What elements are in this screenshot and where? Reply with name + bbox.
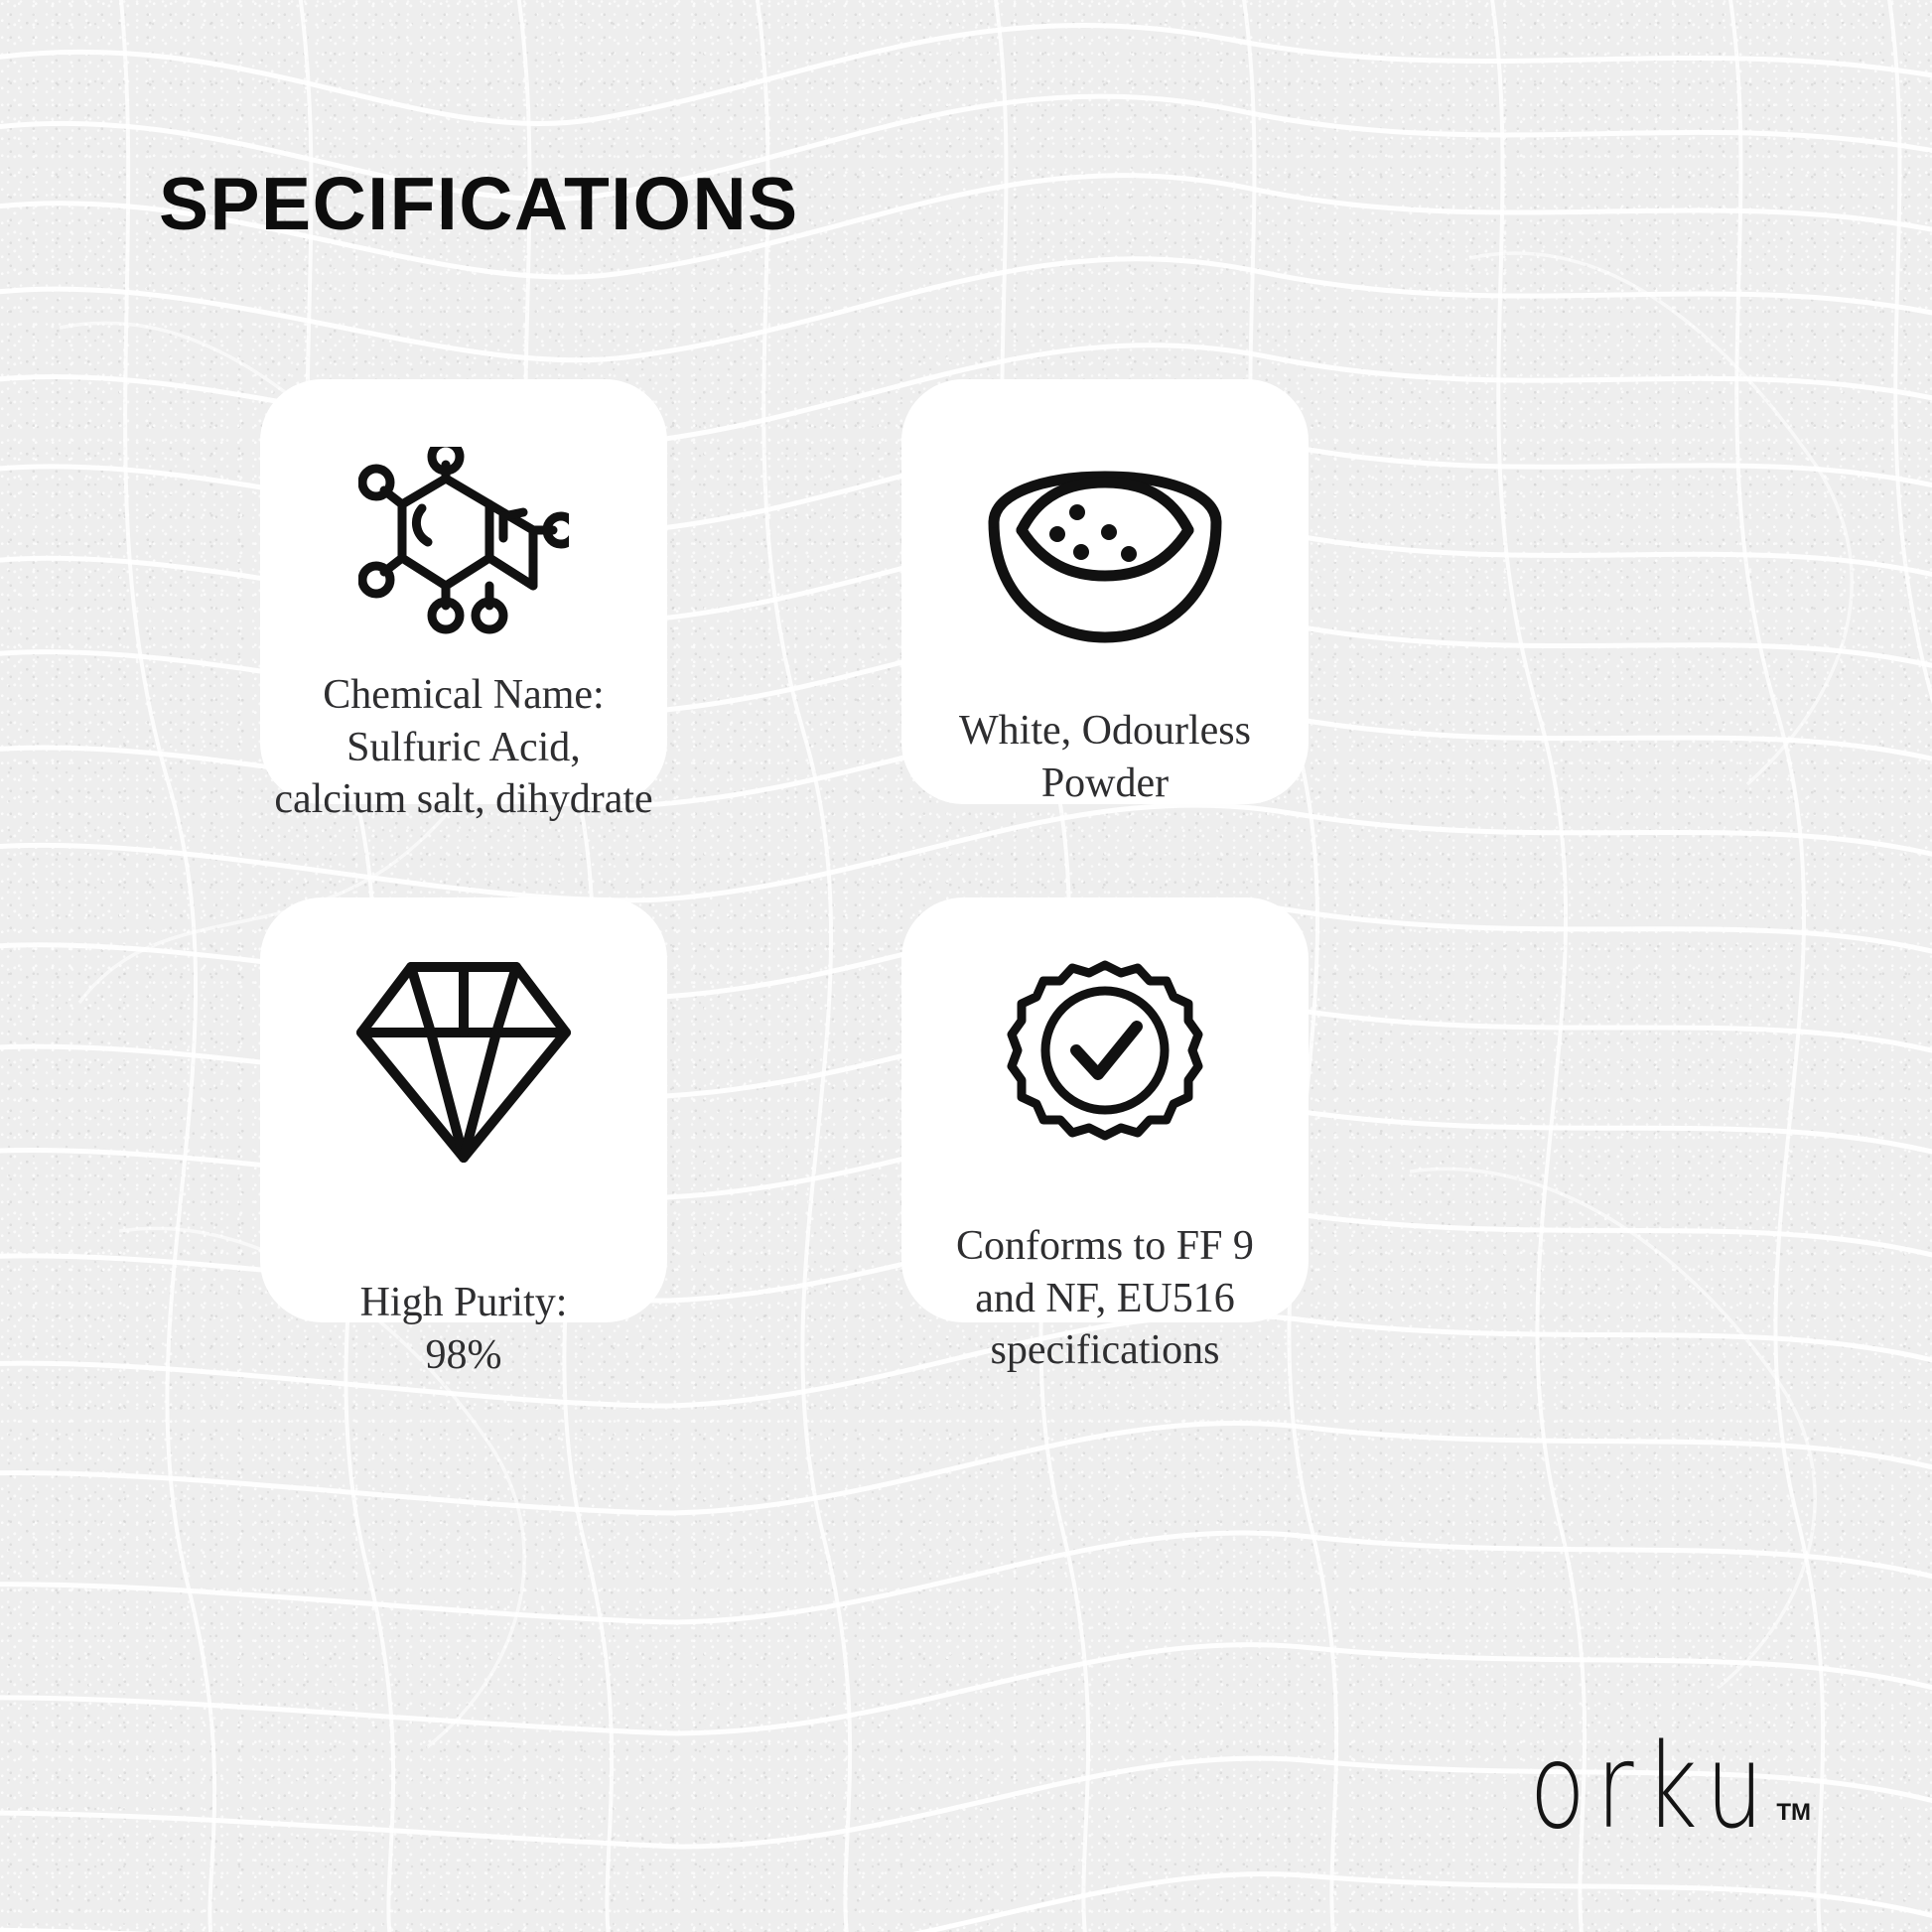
spec-line: Conforms to FF 9 bbox=[907, 1220, 1303, 1273]
spec-card-purity: High Purity: 98% bbox=[260, 897, 667, 1322]
spec-line: White, Odourless bbox=[907, 705, 1303, 758]
spec-line: specifications bbox=[907, 1324, 1303, 1377]
spec-card-text-appearance: White, Odourless Powder bbox=[901, 705, 1309, 809]
trademark-symbol: TM bbox=[1776, 1799, 1811, 1827]
powder-grains bbox=[1049, 504, 1137, 562]
spec-card-text-chemical-name: Chemical Name: Sulfuric Acid, calcium sa… bbox=[260, 669, 667, 826]
diamond-icon-wrap bbox=[260, 959, 667, 1166]
specifications-card-grid: Chemical Name: Sulfuric Acid, calcium sa… bbox=[260, 379, 1311, 1322]
diamond-icon bbox=[353, 959, 574, 1166]
spec-card-text-conformance: Conforms to FF 9 and NF, EU516 specifica… bbox=[901, 1220, 1309, 1377]
spec-line: and NF, EU516 bbox=[907, 1273, 1303, 1325]
spec-line: High Purity: bbox=[266, 1277, 661, 1329]
spec-card-appearance: White, Odourless Powder bbox=[901, 379, 1309, 804]
certified-badge-check-icon bbox=[1001, 959, 1209, 1163]
powder-bowl-icon bbox=[982, 465, 1228, 643]
molecule-icon-wrap bbox=[260, 447, 667, 635]
spec-line: Chemical Name: bbox=[266, 669, 661, 722]
certified-badge-check-icon-wrap bbox=[901, 959, 1309, 1163]
spec-line: Powder bbox=[907, 758, 1303, 810]
spec-line: Sulfuric Acid, bbox=[266, 722, 661, 774]
spec-line: 98% bbox=[266, 1329, 661, 1382]
brand-logo: orku TM bbox=[1460, 1732, 1811, 1841]
spec-line: calcium salt, dihydrate bbox=[266, 773, 661, 826]
spec-card-text-purity: High Purity: 98% bbox=[260, 1277, 667, 1381]
brand-wordmark: orku bbox=[1530, 1732, 1775, 1841]
powder-bowl-icon-wrap bbox=[901, 465, 1309, 643]
spec-card-conformance: Conforms to FF 9 and NF, EU516 specifica… bbox=[901, 897, 1309, 1322]
molecule-icon bbox=[358, 447, 569, 635]
spec-card-chemical-name: Chemical Name: Sulfuric Acid, calcium sa… bbox=[260, 379, 667, 804]
page-title: SPECIFICATIONS bbox=[159, 167, 799, 241]
